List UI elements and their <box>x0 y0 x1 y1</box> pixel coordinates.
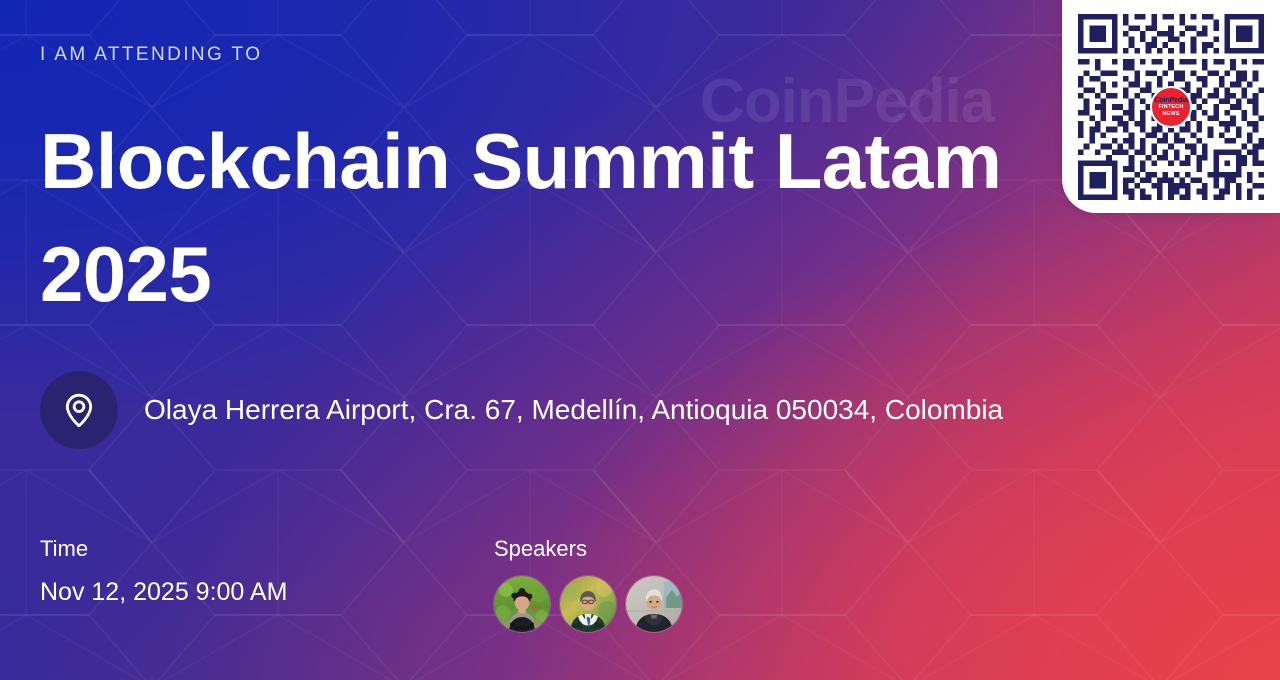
speaker-avatar-list <box>494 576 682 632</box>
qr-code-icon[interactable]: CoinPedia FINTECH NEWS <box>1078 14 1264 200</box>
map-pin-icon <box>40 371 118 449</box>
eyebrow-label: I AM ATTENDING TO <box>40 44 262 66</box>
banner-content: I AM ATTENDING TO Blockchain Summit Lata… <box>0 0 1060 680</box>
location-address: Olaya Herrera Airport, Cra. 67, Medellín… <box>144 377 1003 443</box>
speaker-avatar-3[interactable] <box>626 576 682 632</box>
page-title: Blockchain Summit Latam 2025 <box>40 105 1040 331</box>
location-row: Olaya Herrera Airport, Cra. 67, Medellín… <box>40 371 1003 449</box>
speakers-label: Speakers <box>494 536 682 562</box>
coinpedia-logo: CoinPedia FINTECH NEWS <box>1150 86 1192 128</box>
speaker-avatar-2[interactable] <box>560 576 616 632</box>
time-block: Time Nov 12, 2025 9:00 AM <box>40 536 287 606</box>
speaker-avatar-1[interactable] <box>494 576 550 632</box>
logo-tagline-line2: NEWS <box>1162 112 1179 118</box>
time-value: Nov 12, 2025 9:00 AM <box>40 578 287 606</box>
event-banner: CoinPedia I AM ATTENDING TO Blockchain S… <box>0 0 1280 680</box>
speakers-block: Speakers <box>494 536 682 632</box>
qr-code-panel[interactable]: CoinPedia FINTECH NEWS <box>1062 0 1280 213</box>
logo-brand: CoinPedia <box>1154 96 1187 103</box>
time-label: Time <box>40 536 287 562</box>
